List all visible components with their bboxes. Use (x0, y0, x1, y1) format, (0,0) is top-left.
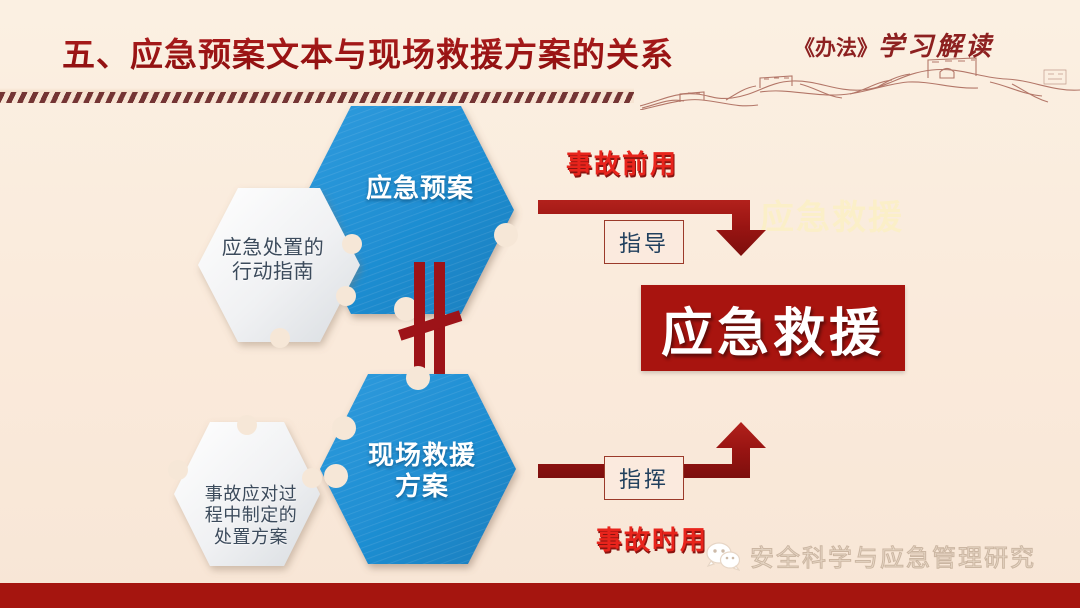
tag-before-incident: 事故前用 (566, 144, 678, 181)
hex-node-label: 应急处置的 行动指南 (222, 237, 325, 284)
watermark: 安全科学与应急管理研究 (706, 538, 1036, 573)
ghost-target-text: 应急救援 (760, 190, 904, 239)
tag-during-incident: 事故时用 (596, 520, 708, 557)
hex-node-incident-response-plan[interactable]: 事故应对过 程中制定的 处置方案 (172, 420, 322, 568)
target-label: 应急救援 (661, 291, 885, 366)
target-emergency-rescue: 应急救援 (641, 285, 905, 371)
slide-canvas: 五、应急预案文本与现场救援方案的关系 五、应急预案文本与现场救援方案的关系 《办… (0, 0, 1080, 608)
footer-bar (0, 583, 1080, 608)
hatch-rule (0, 92, 634, 103)
great-wall-illustration (640, 48, 1080, 110)
hex-node-label: 现场救援 方案 (368, 440, 476, 501)
chip-command[interactable]: 指挥 (604, 456, 684, 500)
hex-node-action-guide[interactable]: 应急处置的 行动指南 (196, 186, 362, 344)
wechat-icon (706, 541, 740, 571)
hex-node-label: 事故应对过 程中制定的 处置方案 (205, 484, 298, 548)
hex-node-label: 应急预案 (366, 173, 474, 204)
hex-node-onsite-rescue-plan[interactable]: 现场救援 方案 (318, 372, 518, 566)
page-title: 五、应急预案文本与现场救援方案的关系 (62, 28, 674, 76)
watermark-text: 安全科学与应急管理研究 (750, 538, 1036, 573)
chip-guidance[interactable]: 指导 (604, 220, 684, 264)
not-equal-sign-icon (396, 258, 466, 390)
